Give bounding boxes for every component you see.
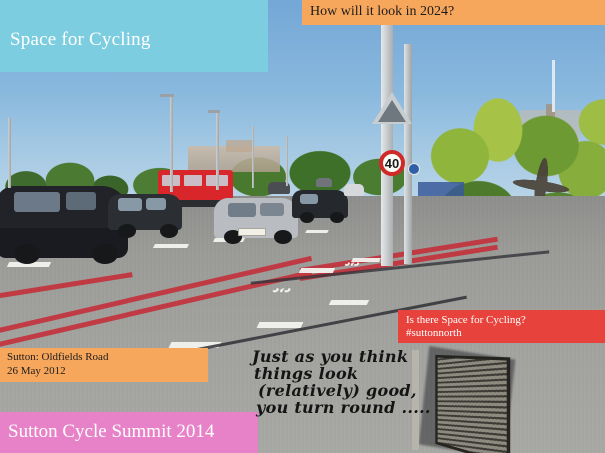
question-banner-red: Is there Space for Cycling? #suttonnorth: [398, 310, 605, 343]
title-banner: Space for Cycling: [0, 0, 268, 72]
car-wheel: [300, 212, 314, 223]
triangular-warning-sign: [372, 92, 412, 124]
lane-dash: [153, 244, 189, 248]
car-window: [300, 194, 318, 204]
caption-date: 26 May 2012: [7, 365, 66, 377]
blue-circular-sign: [408, 163, 420, 175]
car-wheel: [118, 224, 136, 238]
question-banner-top: How will it look in 2024?: [302, 0, 605, 25]
car-windscreen: [14, 192, 60, 212]
cycle-lane-dash: [257, 322, 304, 328]
car-wheel: [330, 212, 344, 223]
distant-vehicle: [316, 178, 332, 187]
lighting-column: [404, 44, 412, 264]
handwritten-annotation: Just as you think things look (relativel…: [252, 348, 442, 416]
page-title: Space for Cycling: [10, 29, 151, 51]
sign-pole: [381, 18, 393, 266]
white-car-midground: [344, 184, 364, 196]
speed-limit-40-sign: 40: [379, 150, 405, 176]
annotation-line-1: Just as you think: [252, 348, 442, 365]
street-lamp-pole: [286, 136, 288, 186]
car-window: [118, 198, 142, 211]
presentation-slide: ◕◖◕ ◕◖◕: [0, 0, 605, 453]
street-lamp-pole: [8, 118, 11, 188]
caption-location: Sutton: Oldfields Road: [7, 351, 108, 363]
car-windscreen: [228, 203, 256, 217]
street-lamp-arm: [160, 94, 174, 97]
question-top-text: How will it look in 2024?: [310, 4, 454, 20]
car-wheel: [14, 244, 40, 264]
lane-dash: [305, 230, 328, 233]
street-lamp-pole: [170, 96, 173, 192]
number-plate: [238, 228, 266, 236]
photo-caption-box: Sutton: Oldfields Road 26 May 2012: [0, 348, 208, 382]
annotation-line-2: things look: [254, 365, 442, 382]
cycle-lane-dash: [329, 300, 369, 305]
annotation-line-4: you turn round .....: [256, 399, 442, 416]
car-wheel: [92, 244, 118, 264]
question-red-line1: Is there Space for Cycling?: [406, 314, 526, 326]
distant-building-roof: [226, 140, 252, 152]
annotation-line-3: (relatively) good,: [258, 382, 442, 399]
footer-text: Sutton Cycle Summit 2014: [8, 421, 214, 443]
car-wheel: [160, 224, 178, 238]
metal-grating: [435, 355, 510, 453]
car-side-window: [260, 203, 284, 216]
street-lamp-arm: [208, 110, 220, 113]
cycle-lane-dash: [299, 268, 335, 273]
car-wheel: [274, 230, 292, 244]
street-lamp-pole: [216, 112, 219, 190]
car-side-window: [66, 192, 96, 210]
hashtag-suttonnorth: #suttonnorth: [406, 327, 462, 339]
street-lamp-pole: [252, 126, 254, 188]
bus-window: [184, 175, 202, 186]
footer-banner: Sutton Cycle Summit 2014: [0, 412, 258, 453]
car-window: [146, 198, 166, 210]
